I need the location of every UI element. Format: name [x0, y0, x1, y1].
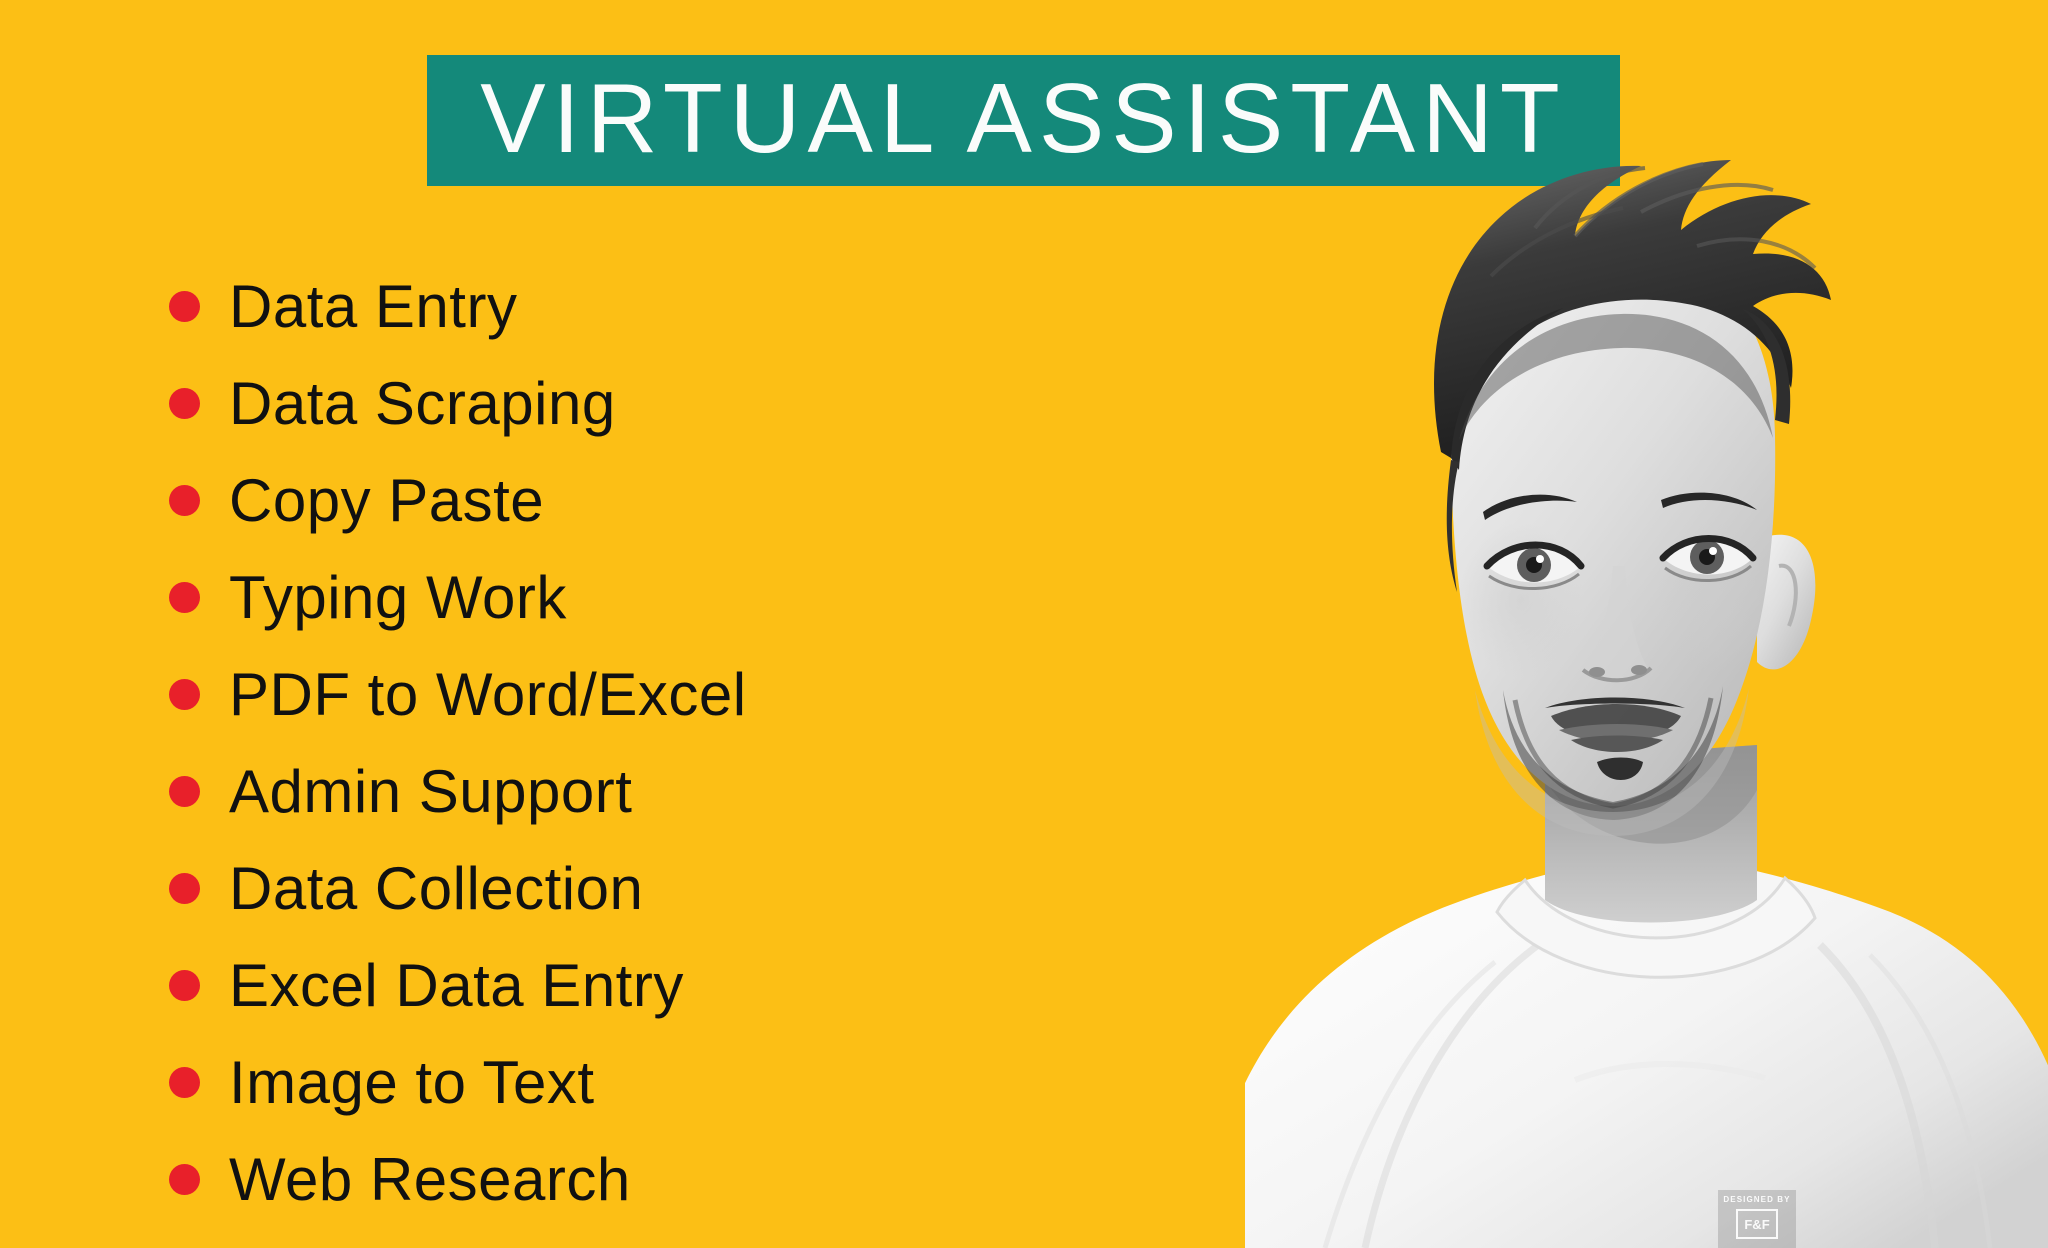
bullet-dot-icon [169, 776, 200, 807]
list-item: Copy Paste [160, 452, 1110, 549]
bullet-dot-icon [169, 388, 200, 419]
portrait-photo [1245, 0, 2048, 1248]
list-item-label: Admin Support [229, 762, 632, 822]
list-item: Data Entry [160, 258, 1110, 355]
watermark-label: DESIGNED BY [1723, 1196, 1790, 1204]
list-item-label: Data Entry [229, 277, 517, 337]
list-item-label: Data Collection [229, 859, 643, 919]
bullet-dot-icon [169, 679, 200, 710]
list-item-label: Web Research [229, 1150, 631, 1210]
list-item-label: Typing Work [229, 568, 567, 628]
service-list: Data Entry Data Scraping Copy Paste Typi… [160, 258, 1110, 1228]
poster-canvas: VIRTUAL ASSISTANT Data Entry Data Scrapi… [0, 0, 2048, 1248]
bullet-dot-icon [169, 1067, 200, 1098]
list-item: Excel Data Entry [160, 937, 1110, 1034]
list-item: Web Research [160, 1131, 1110, 1228]
designer-watermark-badge: DESIGNED BY F&F [1718, 1190, 1796, 1248]
list-item-label: Copy Paste [229, 471, 544, 531]
bullet-dot-icon [169, 582, 200, 613]
list-item-label: Excel Data Entry [229, 956, 684, 1016]
list-item-label: PDF to Word/Excel [229, 665, 747, 725]
list-item: Data Scraping [160, 355, 1110, 452]
list-item: Image to Text [160, 1034, 1110, 1131]
watermark-logo-text: F&F [1744, 1218, 1769, 1231]
designer-badge-icon: F&F [1736, 1209, 1778, 1239]
list-item: Typing Work [160, 549, 1110, 646]
bullet-dot-icon [169, 291, 200, 322]
list-item: PDF to Word/Excel [160, 646, 1110, 743]
bullet-dot-icon [169, 1164, 200, 1195]
bullet-dot-icon [169, 485, 200, 516]
bullet-dot-icon [169, 970, 200, 1001]
list-item-label: Data Scraping [229, 374, 616, 434]
list-item-label: Image to Text [229, 1053, 595, 1113]
bullet-dot-icon [169, 873, 200, 904]
list-item: Admin Support [160, 743, 1110, 840]
list-item: Data Collection [160, 840, 1110, 937]
